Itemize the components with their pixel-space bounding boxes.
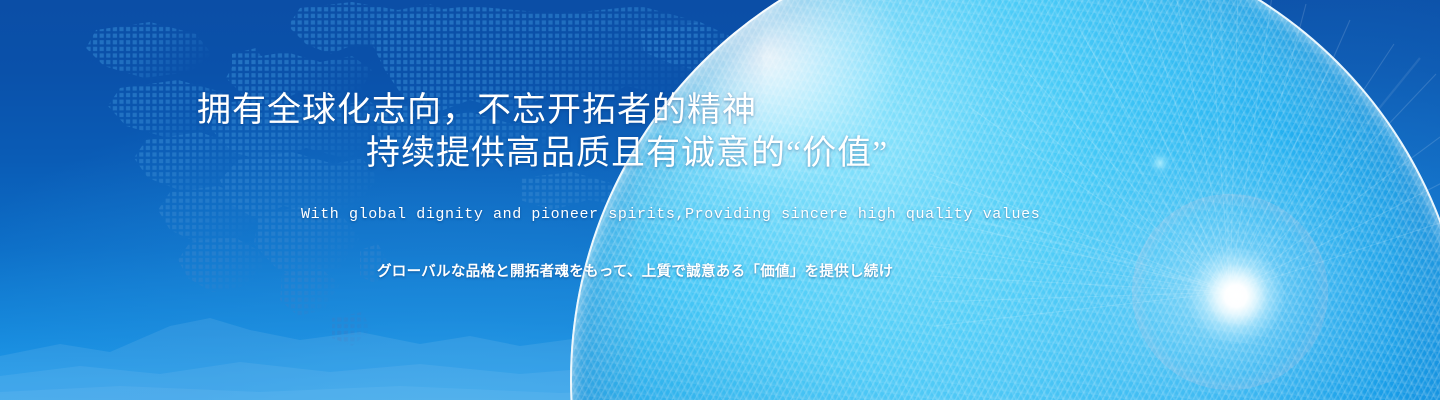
sun-core-icon [1188,248,1284,344]
sun-rays-icon [920,0,1440,400]
subtitle-english: With global dignity and pioneer spirits,… [301,206,1040,223]
sun-bloom [1065,127,1395,400]
globe-texture [570,0,1440,400]
headline-line-1: 拥有全球化志向，不忘开拓者的精神 [197,90,757,133]
sun-halo [1132,194,1328,390]
lens-flare-dot-icon [1147,150,1173,176]
globe-rim-light [570,0,1440,400]
mountain-horizon-icon [0,260,1440,400]
background-glow-right [900,0,1440,400]
globe-cloud-bands [570,0,1440,400]
hero-banner: 拥有全球化志向，不忘开拓者的精神 持续提供高品质且有诚意的“价值” With g… [0,0,1440,400]
globe-shadow [570,0,1440,400]
banner-copy: 拥有全球化志向，不忘开拓者的精神 持续提供高品质且有诚意的“价值” With g… [0,0,1440,400]
dotted-world-map-icon [0,0,760,360]
globe [570,0,1440,400]
headline-line-2: 持续提供高品质且有诚意的“价值” [366,133,888,176]
subtitle-japanese: グローバルな品格と開拓者魂をもって、上質で誠意ある「価値」を提供し続け [377,260,893,281]
